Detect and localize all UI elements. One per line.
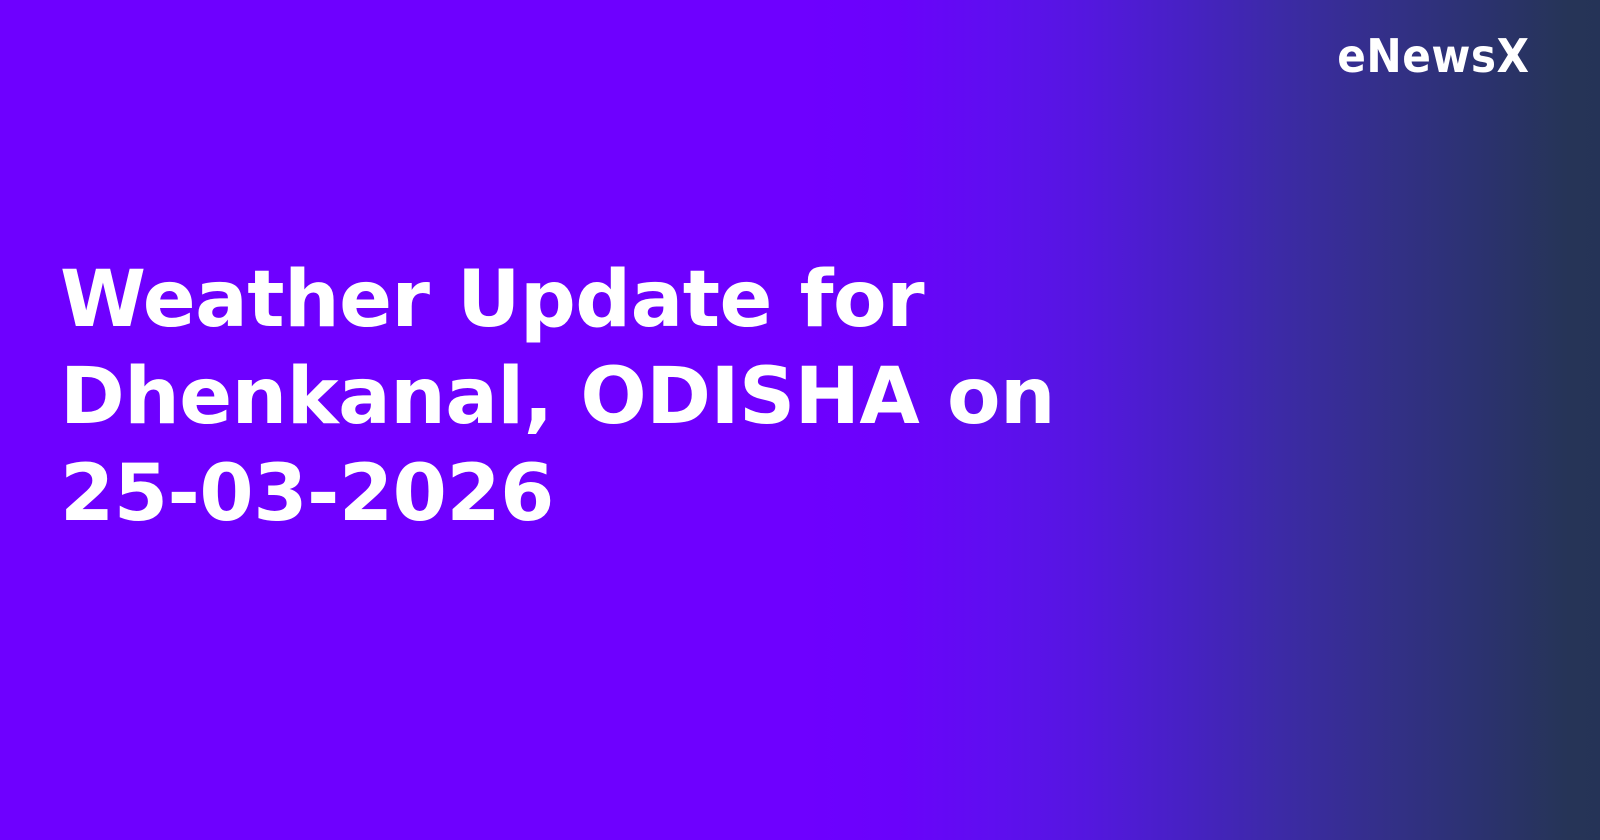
news-banner: eNewsX Weather Update for Dhenkanal, ODI… [0,0,1600,840]
headline-container: Weather Update for Dhenkanal, ODISHA on … [60,252,1210,543]
page-title: Weather Update for Dhenkanal, ODISHA on … [60,252,1210,543]
brand-logo[interactable]: eNewsX [1338,33,1530,79]
